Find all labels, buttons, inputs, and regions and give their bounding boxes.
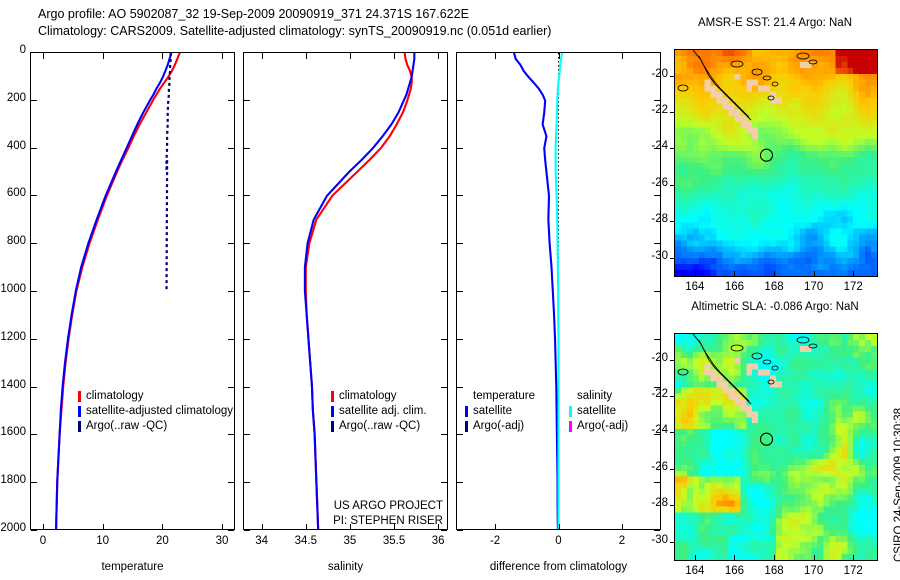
legend-label: climatology	[86, 389, 144, 404]
difference-legend: temperaturesatelliteArgo(-adj)salinitysa…	[465, 389, 628, 434]
axis-tick-mark	[244, 530, 250, 531]
axis-tick-mark	[457, 339, 463, 340]
sla-map-title: Altimetric SLA: -0.086 Argo: NaN	[660, 301, 890, 313]
depth-tick: 600	[0, 187, 26, 199]
axis-tick-mark	[228, 243, 234, 244]
axis-tick-mark	[244, 482, 250, 483]
axis-tick-mark	[244, 291, 250, 292]
salinity-panel	[243, 52, 448, 530]
axis-tick-mark	[853, 271, 854, 276]
map-lat-tick: -22	[636, 388, 668, 400]
map-lat-tick: -26	[636, 177, 668, 189]
axis-tick-mark	[31, 100, 37, 101]
salinity-axis-label: salinity	[243, 561, 448, 573]
axis-tick-mark	[670, 258, 675, 259]
axis-tick-mark	[31, 243, 37, 244]
map-lon-tick: 170	[794, 565, 834, 577]
sst-map	[674, 49, 878, 277]
axis-tick-label: 34.5	[284, 535, 328, 547]
legend-item: Argo(-adj)	[465, 419, 535, 434]
axis-tick-mark	[670, 432, 675, 433]
sst-map-image	[675, 50, 877, 276]
axis-tick-mark	[262, 53, 263, 59]
axis-tick-mark	[228, 387, 234, 388]
axis-tick-mark	[654, 482, 660, 483]
axis-tick-mark	[441, 434, 447, 435]
axis-tick-label: 34	[240, 535, 284, 547]
axis-tick-mark	[244, 339, 250, 340]
axis-tick-mark	[244, 148, 250, 149]
axis-tick-mark	[670, 185, 675, 186]
axis-tick-label: 35	[328, 535, 372, 547]
axis-tick-label: 10	[81, 535, 125, 547]
legend-item: climatology	[331, 389, 427, 404]
axis-tick-mark	[244, 243, 250, 244]
axis-tick-mark	[162, 524, 163, 530]
axis-tick-mark	[31, 291, 37, 292]
axis-tick-mark	[457, 148, 463, 149]
axis-tick-mark	[853, 555, 854, 560]
axis-tick-mark	[31, 195, 37, 196]
axis-tick-label: 35.5	[372, 535, 416, 547]
axis-tick-mark	[103, 53, 104, 59]
legend-color-swatch	[569, 406, 572, 417]
axis-tick-mark	[394, 53, 395, 59]
axis-tick-mark	[654, 243, 660, 244]
axis-tick-label: 20	[140, 535, 184, 547]
axis-tick-mark	[670, 360, 675, 361]
axis-tick-mark	[262, 524, 263, 530]
axis-tick-mark	[734, 271, 735, 276]
depth-tick: 1600	[0, 426, 26, 438]
temperature-panel	[30, 52, 235, 530]
axis-tick-mark	[222, 524, 223, 530]
legend-color-swatch	[331, 406, 334, 417]
map-lat-tick: -20	[636, 68, 668, 80]
legend-label: satellite adj. clim.	[339, 404, 427, 419]
legend-color-swatch	[78, 406, 81, 417]
axis-tick-mark	[670, 396, 675, 397]
axis-tick-mark	[457, 195, 463, 196]
map-lon-tick: 170	[794, 281, 834, 293]
axis-tick-mark	[438, 53, 439, 59]
legend-item: Argo(-adj)	[569, 419, 628, 434]
depth-tick: 2000	[0, 522, 26, 534]
axis-tick-label: 36	[416, 535, 460, 547]
axis-tick-mark	[43, 53, 44, 59]
csiro-timestamp: CSIRO 24-Sep-2009 10:30:38	[893, 408, 900, 562]
legend-item: satellite	[569, 404, 628, 419]
legend-item: Argo(..raw -QC)	[331, 419, 427, 434]
axis-tick-mark	[244, 434, 250, 435]
axis-tick-mark	[457, 482, 463, 483]
axis-tick-mark	[457, 100, 463, 101]
title-line-1: Argo profile: AO 5902087_32 19-Sep-2009 …	[38, 6, 658, 23]
depth-tick: 0	[0, 44, 26, 56]
axis-tick-mark	[441, 530, 447, 531]
map-lon-tick: 172	[833, 281, 873, 293]
legend-color-swatch	[465, 421, 468, 432]
axis-tick-mark	[670, 112, 675, 113]
legend-group: salinitysatelliteArgo(-adj)	[569, 389, 628, 434]
axis-tick-mark	[31, 434, 37, 435]
legend-group: temperaturesatelliteArgo(-adj)	[465, 389, 535, 434]
axis-tick-mark	[31, 530, 37, 531]
axis-tick-mark	[670, 221, 675, 222]
axis-tick-mark	[103, 524, 104, 530]
depth-tick: 400	[0, 140, 26, 152]
axis-tick-mark	[670, 148, 675, 149]
axis-tick-mark	[654, 100, 660, 101]
axis-tick-mark	[228, 195, 234, 196]
sla-map-image	[675, 334, 877, 560]
axis-tick-mark	[441, 195, 447, 196]
axis-tick-mark	[306, 53, 307, 59]
legend-item: Argo(..raw -QC)	[78, 419, 233, 434]
credit-line-1: US ARGO PROJECT	[288, 499, 443, 514]
legend-label: Argo(..raw -QC)	[339, 419, 420, 434]
axis-tick-mark	[695, 271, 696, 276]
axis-tick-mark	[670, 469, 675, 470]
map-lat-tick: -30	[636, 534, 668, 546]
legend-group-header: temperature	[465, 389, 535, 404]
axis-tick-mark	[814, 271, 815, 276]
credit-line-2: PI: STEPHEN RISER	[288, 514, 443, 529]
map-lat-tick: -28	[636, 213, 668, 225]
axis-tick-mark	[814, 555, 815, 560]
difference-panel	[456, 52, 661, 530]
axis-tick-label: 0	[537, 535, 581, 547]
axis-tick-mark	[31, 387, 37, 388]
sst-map-title: AMSR-E SST: 21.4 Argo: NaN	[660, 17, 890, 29]
axis-tick-mark	[228, 148, 234, 149]
map-lon-tick: 166	[714, 565, 754, 577]
axis-tick-mark	[457, 291, 463, 292]
axis-tick-mark	[441, 100, 447, 101]
map-lat-tick: -20	[636, 352, 668, 364]
difference-axis-label: difference from climatology	[446, 561, 671, 573]
axis-tick-label: -2	[473, 535, 517, 547]
axis-tick-mark	[654, 291, 660, 292]
legend-color-swatch	[569, 421, 572, 432]
axis-tick-mark	[654, 530, 660, 531]
legend-group-header: salinity	[569, 389, 628, 404]
map-lon-tick: 164	[675, 281, 715, 293]
axis-tick-mark	[441, 482, 447, 483]
map-lon-tick: 166	[714, 281, 754, 293]
temperature-axis-label: temperature	[30, 561, 235, 573]
axis-tick-mark	[162, 53, 163, 59]
map-lon-tick: 172	[833, 565, 873, 577]
depth-tick: 800	[0, 235, 26, 247]
sla-map	[674, 333, 878, 561]
legend-color-swatch	[465, 406, 468, 417]
axis-tick-mark	[228, 482, 234, 483]
axis-tick-label: 0	[21, 535, 65, 547]
salinity-legend: climatologysatellite adj. clim.Argo(..ra…	[331, 389, 427, 434]
axis-tick-mark	[31, 148, 37, 149]
depth-tick: 1000	[0, 283, 26, 295]
axis-tick-mark	[670, 505, 675, 506]
figure-title: Argo profile: AO 5902087_32 19-Sep-2009 …	[38, 6, 658, 40]
legend-color-swatch	[78, 391, 81, 402]
legend-color-swatch	[78, 421, 81, 432]
salinity-plot	[244, 53, 447, 529]
depth-tick: 200	[0, 92, 26, 104]
legend-color-swatch	[331, 391, 334, 402]
axis-tick-mark	[228, 100, 234, 101]
axis-tick-mark	[244, 195, 250, 196]
temperature-legend: climatologysatellite-adjusted climatolog…	[78, 389, 233, 434]
axis-tick-mark	[457, 387, 463, 388]
axis-tick-mark	[441, 243, 447, 244]
axis-tick-mark	[441, 339, 447, 340]
legend-label: satellite-adjusted climatology	[86, 404, 233, 419]
axis-tick-mark	[244, 100, 250, 101]
axis-tick-mark	[31, 482, 37, 483]
axis-tick-mark	[622, 524, 623, 530]
project-credit: US ARGO PROJECT PI: STEPHEN RISER	[288, 499, 443, 529]
axis-tick-mark	[670, 542, 675, 543]
axis-tick-mark	[31, 339, 37, 340]
depth-tick: 1800	[0, 474, 26, 486]
axis-tick-label: 30	[200, 535, 244, 547]
axis-tick-mark	[441, 52, 447, 53]
legend-color-swatch	[331, 421, 334, 432]
map-lon-tick: 164	[675, 565, 715, 577]
axis-tick-mark	[244, 52, 250, 53]
map-lat-tick: -30	[636, 250, 668, 262]
axis-tick-mark	[774, 555, 775, 560]
axis-tick-mark	[695, 555, 696, 560]
legend-item: satellite	[465, 404, 535, 419]
map-lat-tick: -28	[636, 497, 668, 509]
axis-tick-mark	[350, 53, 351, 59]
axis-tick-mark	[457, 243, 463, 244]
axis-tick-mark	[228, 434, 234, 435]
legend-item: satellite adj. clim.	[331, 404, 427, 419]
map-lon-tick: 168	[754, 281, 794, 293]
axis-tick-mark	[622, 53, 623, 59]
legend-item: satellite-adjusted climatology	[78, 404, 233, 419]
axis-tick-mark	[495, 53, 496, 59]
axis-tick-mark	[734, 555, 735, 560]
axis-tick-mark	[457, 434, 463, 435]
axis-tick-mark	[441, 387, 447, 388]
axis-tick-mark	[43, 524, 44, 530]
depth-tick: 1200	[0, 331, 26, 343]
legend-label: Argo(-adj)	[473, 419, 524, 434]
map-lon-tick: 168	[754, 565, 794, 577]
difference-plot	[457, 53, 660, 529]
axis-tick-mark	[222, 53, 223, 59]
axis-tick-mark	[654, 339, 660, 340]
axis-tick-mark	[670, 76, 675, 77]
map-lat-tick: -22	[636, 104, 668, 116]
map-lat-tick: -24	[636, 424, 668, 436]
axis-tick-mark	[559, 53, 560, 59]
axis-tick-mark	[228, 291, 234, 292]
depth-tick: 1400	[0, 379, 26, 391]
axis-tick-mark	[654, 52, 660, 53]
axis-tick-mark	[457, 52, 463, 53]
map-lat-tick: -24	[636, 140, 668, 152]
temperature-plot	[31, 53, 234, 529]
axis-tick-mark	[774, 271, 775, 276]
legend-label: Argo(-adj)	[577, 419, 628, 434]
axis-tick-mark	[31, 52, 37, 53]
legend-label: satellite	[577, 404, 616, 419]
map-lat-tick: -26	[636, 461, 668, 473]
axis-tick-mark	[457, 530, 463, 531]
legend-label: climatology	[339, 389, 397, 404]
axis-tick-mark	[244, 387, 250, 388]
axis-tick-mark	[228, 530, 234, 531]
axis-tick-mark	[228, 339, 234, 340]
title-line-2: Climatology: CARS2009. Satellite-adjuste…	[38, 23, 658, 40]
legend-label: satellite	[473, 404, 512, 419]
axis-tick-mark	[441, 291, 447, 292]
axis-tick-mark	[228, 52, 234, 53]
legend-item: climatology	[78, 389, 233, 404]
legend-label: Argo(..raw -QC)	[86, 419, 167, 434]
axis-tick-mark	[559, 524, 560, 530]
axis-tick-mark	[654, 195, 660, 196]
axis-tick-mark	[495, 524, 496, 530]
axis-tick-mark	[441, 148, 447, 149]
